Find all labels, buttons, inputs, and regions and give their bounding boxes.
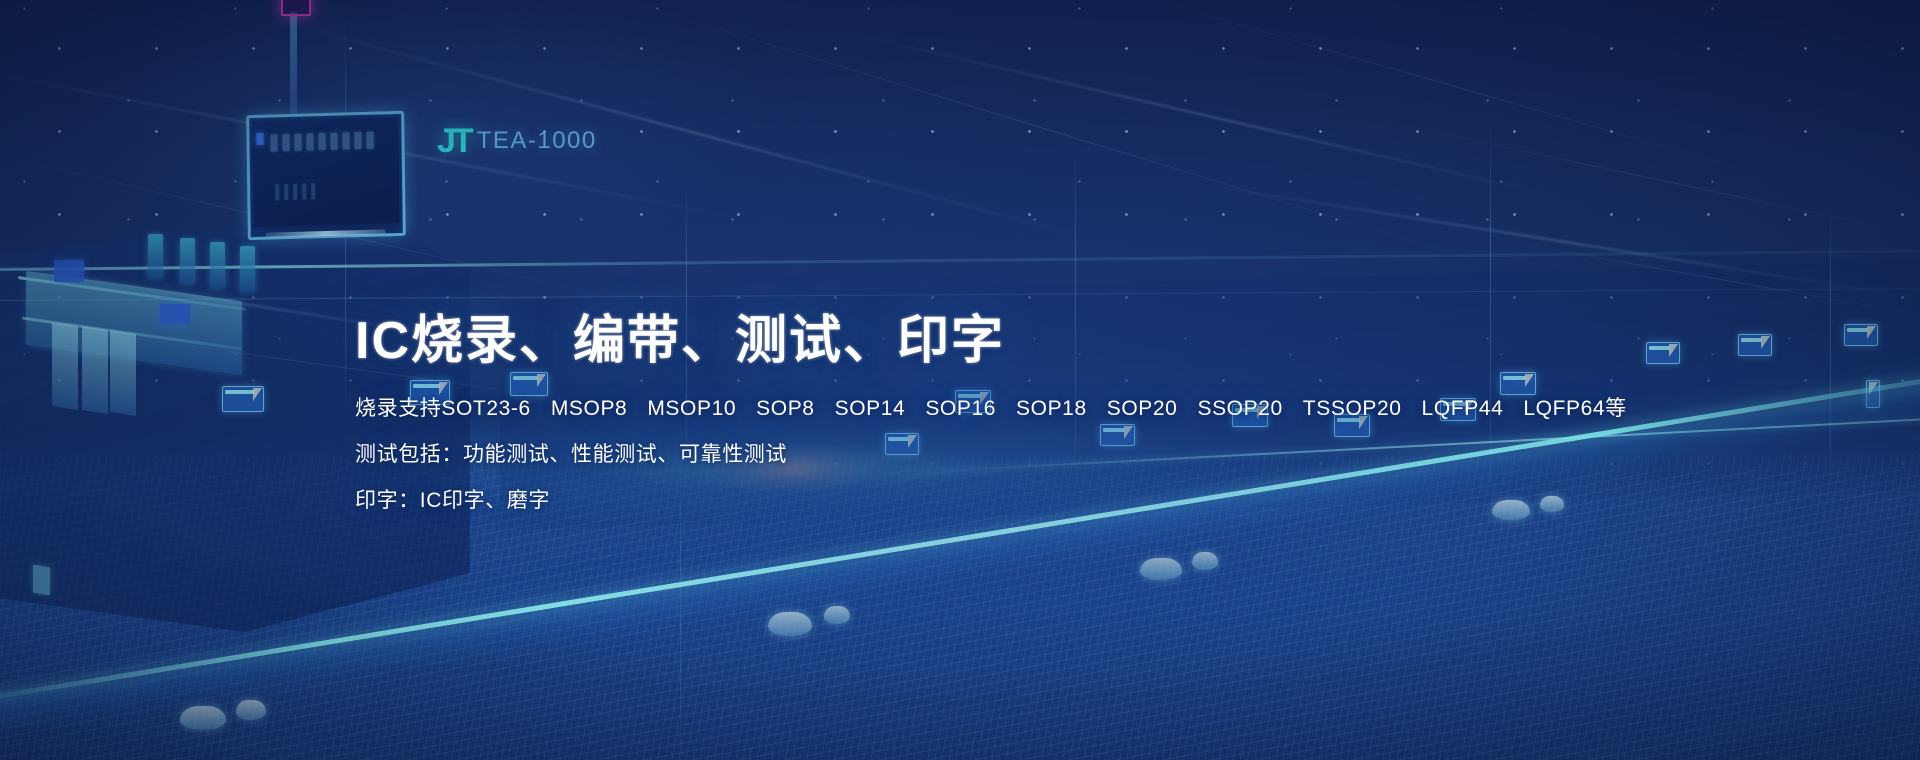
marking-scope-line: 印字：IC印字、磨字: [355, 490, 1605, 511]
hero-copy-block: IC烧录、编带、测试、印字 烧录支持SOT23-6MSOP8MSOP10SOP8…: [355, 312, 1605, 511]
monitor-status-led: [256, 133, 263, 145]
handler-machine-rig: [8, 228, 258, 418]
brand-mark-text: JT: [437, 124, 471, 158]
page-title: IC烧录、编带、测试、印字: [355, 312, 1605, 370]
package-item: SOP20: [1107, 398, 1178, 419]
package-item: LQFP64等: [1523, 398, 1626, 419]
burn-support-line: 烧录支持SOT23-6MSOP8MSOP10SOP8SOP14SOP16SOP1…: [355, 398, 1605, 419]
package-item: MSOP8: [551, 398, 628, 419]
package-item: TSSOP20: [1303, 398, 1402, 419]
equipment-model-text: TEA-1000: [477, 129, 597, 153]
package-item: SOP14: [835, 398, 906, 419]
hero-subcopy-list: 烧录支持SOT23-6MSOP8MSOP10SOP8SOP14SOP16SOP1…: [355, 398, 1605, 511]
package-item: LQFP44: [1422, 398, 1504, 419]
sensor-mount-stem: [290, 12, 297, 128]
burn-support-label: 烧录支持SOT23-6: [355, 398, 531, 419]
package-item: SOP18: [1016, 398, 1087, 419]
package-item: SSOP20: [1197, 398, 1282, 419]
package-item: SOP8: [756, 398, 814, 419]
package-list: 烧录支持SOT23-6MSOP8MSOP10SOP8SOP14SOP16SOP1…: [355, 398, 1605, 419]
testing-scope-line: 测试包括：功能测试、性能测试、可靠性测试: [355, 444, 1605, 465]
package-item: MSOP10: [647, 398, 736, 419]
control-monitor: [246, 111, 406, 240]
equipment-brand-logo: JT TEA-1000: [437, 124, 597, 158]
hero-banner: JT TEA-1000: [0, 0, 1920, 760]
wall-plate-marker: [33, 565, 50, 596]
magenta-sensor-indicator: [281, 0, 311, 16]
package-item: SOP16: [925, 398, 996, 419]
monitor-screen: [252, 117, 399, 227]
